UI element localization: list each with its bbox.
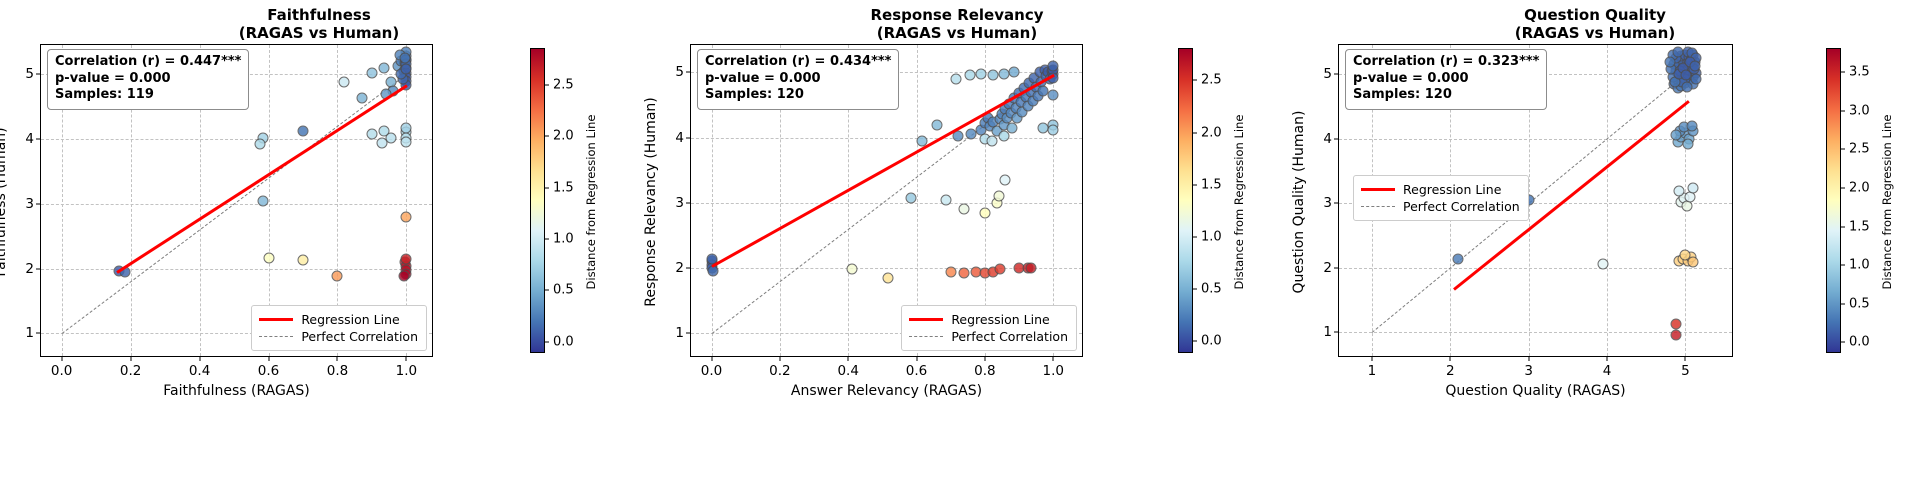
gridline-horizontal (41, 269, 432, 270)
data-point (399, 271, 410, 282)
colorbar-tick-mark (1192, 237, 1197, 238)
data-point (1688, 257, 1699, 268)
legend-label-regression: Regression Line (1403, 182, 1501, 197)
x-tick-mark (984, 356, 985, 361)
regression-line (116, 85, 407, 274)
legend-item-regression[interactable]: Regression Line (909, 311, 1068, 328)
data-point (1671, 130, 1682, 141)
y-tick-label: 5 (675, 64, 684, 80)
x-tick-mark (199, 356, 200, 361)
y-tick-mark (1334, 267, 1339, 268)
stats-annotation: Correlation (r) = 0.447***p-value = 0.00… (47, 49, 249, 110)
x-tick-mark (1371, 356, 1372, 361)
x-tick-mark (1053, 356, 1054, 361)
x-tick-label: 2 (1446, 363, 1455, 379)
data-point (366, 67, 377, 78)
colorbar-tick-label: 2.0 (553, 129, 574, 144)
data-point (932, 119, 943, 130)
data-point (401, 122, 412, 133)
y-tick-mark (686, 137, 691, 138)
gridline-vertical (1607, 45, 1608, 356)
data-point (1682, 138, 1693, 149)
colorbar-tick-mark (1192, 80, 1197, 81)
y-tick-mark (36, 203, 41, 204)
colorbar-tick-label: 2.5 (1201, 73, 1222, 88)
data-point (959, 204, 970, 215)
panel-title: Faithfulness (RAGAS vs Human) (0, 6, 638, 43)
pvalue-text: p-value = 0.000 (1353, 71, 1539, 88)
data-point (1453, 254, 1464, 265)
pvalue-text: p-value = 0.000 (705, 71, 891, 88)
colorbar-label: Distance from Regression Line (1880, 114, 1894, 289)
regression-line-icon (1361, 188, 1395, 191)
data-point (1671, 330, 1682, 341)
x-tick-label: 0.0 (51, 363, 72, 379)
x-tick-mark (406, 356, 407, 361)
y-tick-mark (686, 72, 691, 73)
data-point (1674, 186, 1685, 197)
data-point (976, 68, 987, 79)
data-point (846, 264, 857, 275)
samples-text: Samples: 119 (55, 87, 241, 104)
data-point (1007, 122, 1018, 133)
pvalue-text: p-value = 0.000 (55, 71, 241, 88)
regression-line-icon (259, 318, 293, 321)
plot-legend[interactable]: Regression LinePerfect Correlation (251, 305, 427, 351)
x-tick-label: 3 (1524, 363, 1533, 379)
data-point (1048, 89, 1059, 100)
x-tick-label: 1 (1368, 363, 1377, 379)
data-point (258, 196, 269, 207)
legend-label-perfect: Perfect Correlation (951, 329, 1068, 344)
plot-area: 123450.00.20.40.60.81.0Answer Relevancy … (690, 44, 1083, 357)
x-axis-label: Question Quality (RAGAS) (1339, 383, 1732, 399)
x-tick-label: 4 (1603, 363, 1612, 379)
y-tick-label: 2 (1323, 260, 1332, 276)
colorbar-tick-label: 1.5 (1849, 219, 1870, 234)
y-tick-mark (36, 74, 41, 75)
colorbar: 0.00.51.01.52.02.5Distance from Regressi… (1178, 48, 1193, 353)
legend-label-perfect: Perfect Correlation (1403, 199, 1520, 214)
panel-2: Response Relevancy (RAGAS vs Human)12345… (638, 0, 1276, 500)
data-point (1598, 259, 1609, 270)
plot-legend[interactable]: Regression LinePerfect Correlation (1353, 175, 1529, 221)
perfect-correlation-icon (909, 336, 943, 337)
colorbar-tick-mark (1840, 72, 1845, 73)
legend-item-regression[interactable]: Regression Line (1361, 181, 1520, 198)
correlation-text: Correlation (r) = 0.447*** (55, 54, 241, 71)
legend-item-perfect[interactable]: Perfect Correlation (259, 328, 418, 345)
correlation-text: Correlation (r) = 0.434*** (705, 54, 891, 71)
colorbar: 0.00.51.01.52.02.5Distance from Regressi… (530, 48, 545, 353)
y-tick-mark (36, 268, 41, 269)
data-point (1026, 263, 1037, 274)
samples-text: Samples: 120 (705, 87, 891, 104)
data-point (986, 135, 997, 146)
gridline-horizontal (691, 138, 1082, 139)
data-point (998, 68, 1009, 79)
plot-legend[interactable]: Regression LinePerfect Correlation (901, 305, 1077, 351)
data-point (298, 255, 309, 266)
colorbar-tick-label: 1.0 (1201, 230, 1222, 245)
x-tick-mark (1685, 356, 1686, 361)
y-axis-label: Question Quality (Human) (1291, 110, 1307, 293)
x-tick-label: 0.0 (701, 363, 722, 379)
x-tick-mark (130, 356, 131, 361)
legend-item-perfect[interactable]: Perfect Correlation (1361, 198, 1520, 215)
colorbar-tick-mark (1192, 184, 1197, 185)
data-point (998, 131, 1009, 142)
panel-title: Question Quality (RAGAS vs Human) (1276, 6, 1914, 43)
y-tick-label: 1 (675, 325, 684, 341)
legend-item-regression[interactable]: Regression Line (259, 311, 418, 328)
y-tick-mark (686, 268, 691, 269)
x-tick-label: 5 (1681, 363, 1690, 379)
data-point (988, 69, 999, 80)
x-tick-mark (337, 356, 338, 361)
legend-label-perfect: Perfect Correlation (301, 329, 418, 344)
legend-label-regression: Regression Line (951, 312, 1049, 327)
colorbar-tick-label: 1.0 (1849, 258, 1870, 273)
colorbar-tick-mark (544, 187, 549, 188)
data-point (1037, 123, 1048, 134)
x-tick-label: 0.4 (189, 363, 210, 379)
samples-text: Samples: 120 (1353, 87, 1539, 104)
gridline-horizontal (691, 203, 1082, 204)
figure-canvas: Faithfulness (RAGAS vs Human)123450.00.2… (0, 0, 1914, 500)
data-point (950, 73, 961, 84)
perfect-correlation-icon (1361, 206, 1395, 207)
x-axis-label: Faithfulness (RAGAS) (41, 383, 432, 399)
x-tick-mark (1528, 356, 1529, 361)
data-point (1048, 124, 1059, 135)
x-tick-mark (779, 356, 780, 361)
colorbar-tick-mark (1840, 303, 1845, 304)
plot-area: 1234512345Question Quality (RAGAS)Questi… (1338, 44, 1733, 357)
data-point (366, 128, 377, 139)
colorbar-tick-mark (1840, 226, 1845, 227)
data-point (401, 254, 412, 265)
colorbar-tick-mark (544, 341, 549, 342)
colorbar-tick-label: 0.0 (1201, 334, 1222, 349)
colorbar-tick-mark (1840, 265, 1845, 266)
data-point (332, 270, 343, 281)
x-tick-mark (848, 356, 849, 361)
colorbar-tick-mark (1192, 289, 1197, 290)
colorbar-tick-label: 0.5 (1849, 296, 1870, 311)
data-point (254, 138, 265, 149)
legend-item-perfect[interactable]: Perfect Correlation (909, 328, 1068, 345)
gridline-horizontal (41, 204, 432, 205)
x-tick-label: 0.2 (120, 363, 141, 379)
y-tick-mark (36, 333, 41, 334)
data-point (298, 126, 309, 137)
data-point (1686, 120, 1697, 131)
colorbar-tick-label: 0.5 (553, 283, 574, 298)
perfect-correlation-icon (259, 336, 293, 337)
data-point (1688, 182, 1699, 193)
data-point (399, 52, 410, 63)
colorbar-tick-label: 2.0 (1201, 125, 1222, 140)
data-point (995, 264, 1006, 275)
y-tick-label: 1 (1323, 324, 1332, 340)
y-tick-label: 2 (675, 260, 684, 276)
stats-annotation: Correlation (r) = 0.323***p-value = 0.00… (1345, 49, 1547, 110)
y-axis-label: Faithfulness (Human) (0, 127, 9, 276)
data-point (400, 63, 411, 74)
x-tick-mark (711, 356, 712, 361)
colorbar-tick-mark (544, 238, 549, 239)
plot-area: 123450.00.20.40.60.81.0Faithfulness (RAG… (40, 44, 433, 357)
y-tick-mark (1334, 203, 1339, 204)
colorbar-tick-mark (544, 84, 549, 85)
x-tick-label: 0.2 (769, 363, 790, 379)
colorbar-tick-mark (1840, 187, 1845, 188)
data-point (993, 191, 1004, 202)
data-point (1672, 47, 1683, 58)
colorbar-tick-mark (544, 136, 549, 137)
data-point (401, 211, 412, 222)
colorbar-tick-label: 3.5 (1849, 65, 1870, 80)
data-point (964, 69, 975, 80)
data-point (979, 207, 990, 218)
data-point (940, 194, 951, 205)
colorbar-tick-label: 0.0 (553, 334, 574, 349)
colorbar-tick-label: 3.0 (1849, 103, 1870, 118)
y-tick-mark (1334, 138, 1339, 139)
correlation-text: Correlation (r) = 0.323*** (1353, 54, 1539, 71)
x-tick-mark (268, 356, 269, 361)
y-tick-mark (1334, 74, 1339, 75)
colorbar-tick-mark (544, 290, 549, 291)
data-point (906, 193, 917, 204)
y-tick-label: 5 (25, 66, 34, 82)
x-tick-label: 0.8 (974, 363, 995, 379)
data-point (1691, 74, 1702, 85)
y-tick-label: 4 (1323, 131, 1332, 147)
data-point (1008, 67, 1019, 78)
x-tick-label: 1.0 (396, 363, 417, 379)
colorbar-tick-label: 1.5 (553, 180, 574, 195)
colorbar-tick-mark (1192, 341, 1197, 342)
gridline-horizontal (41, 139, 432, 140)
data-point (401, 137, 412, 148)
colorbar-label: Distance from Regression Line (1232, 114, 1246, 289)
y-tick-mark (36, 138, 41, 139)
colorbar-tick-mark (1840, 149, 1845, 150)
data-point (945, 266, 956, 277)
x-tick-label: 0.4 (837, 363, 858, 379)
gridline-horizontal (1339, 268, 1732, 269)
colorbar-tick-label: 2.5 (1849, 142, 1870, 157)
y-tick-label: 4 (25, 131, 34, 147)
y-tick-mark (686, 333, 691, 334)
colorbar-tick-mark (1840, 110, 1845, 111)
x-tick-label: 1.0 (1042, 363, 1063, 379)
colorbar-tick-label: 0.5 (1201, 282, 1222, 297)
x-tick-label: 0.6 (258, 363, 279, 379)
y-tick-label: 5 (1323, 66, 1332, 82)
x-axis-label: Answer Relevancy (RAGAS) (691, 383, 1082, 399)
data-point (1681, 70, 1692, 81)
x-tick-mark (1450, 356, 1451, 361)
colorbar-tick-mark (1192, 132, 1197, 133)
colorbar-tick-label: 0.0 (1849, 335, 1870, 350)
y-tick-label: 2 (25, 261, 34, 277)
panel-1: Faithfulness (RAGAS vs Human)123450.00.2… (0, 0, 638, 500)
colorbar-tick-label: 2.5 (553, 77, 574, 92)
legend-label-regression: Regression Line (301, 312, 399, 327)
data-point (1000, 174, 1011, 185)
colorbar-tick-label: 2.0 (1849, 180, 1870, 195)
x-tick-label: 0.6 (906, 363, 927, 379)
data-point (1671, 319, 1682, 330)
y-tick-label: 1 (25, 325, 34, 341)
y-tick-mark (686, 202, 691, 203)
y-axis-label: Response Relevancy (Human) (643, 97, 659, 307)
regression-line-icon (909, 318, 943, 321)
data-point (1689, 61, 1700, 72)
data-point (1048, 60, 1059, 71)
y-tick-mark (1334, 332, 1339, 333)
y-tick-label: 4 (675, 130, 684, 146)
y-tick-label: 3 (1323, 195, 1332, 211)
data-point (959, 268, 970, 279)
colorbar: 0.00.51.01.52.02.53.03.5Distance from Re… (1826, 48, 1841, 353)
panel-title: Response Relevancy (RAGAS vs Human) (638, 6, 1276, 43)
colorbar-tick-label: 1.0 (553, 231, 574, 246)
colorbar-tick-label: 1.5 (1201, 177, 1222, 192)
data-point (379, 62, 390, 73)
x-tick-label: 0.8 (327, 363, 348, 379)
data-point (1681, 81, 1692, 92)
y-tick-label: 3 (25, 196, 34, 212)
panel-3: Question Quality (RAGAS vs Human)1234512… (1276, 0, 1914, 500)
data-point (1664, 57, 1675, 68)
x-tick-mark (916, 356, 917, 361)
x-tick-mark (61, 356, 62, 361)
data-point (882, 273, 893, 284)
data-point (263, 252, 274, 263)
colorbar-tick-mark (1840, 342, 1845, 343)
data-point (339, 76, 350, 87)
colorbar-label: Distance from Regression Line (584, 114, 598, 289)
stats-annotation: Correlation (r) = 0.434***p-value = 0.00… (697, 49, 899, 110)
y-tick-label: 3 (675, 195, 684, 211)
data-point (356, 93, 367, 104)
x-tick-mark (1607, 356, 1608, 361)
data-point (377, 137, 388, 148)
